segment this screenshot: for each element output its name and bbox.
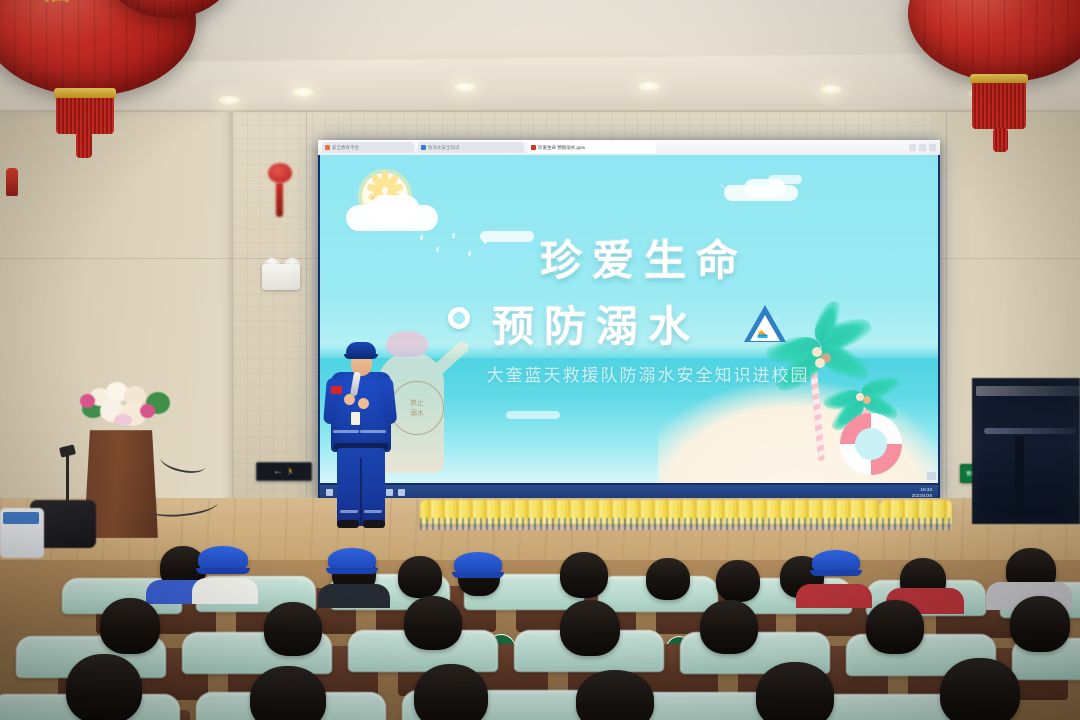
reflective-stripe: [333, 430, 359, 433]
life-ring-icon: [840, 413, 902, 475]
wall-lantern-tassel: [276, 183, 283, 217]
browser-tab[interactable]: 防溺水安全知识: [418, 142, 524, 153]
browser-tab-label: 珍爱生命 预防溺水.pptx: [538, 145, 585, 151]
slide-subtitle: 大奎蓝天救援队防溺水安全知识进校园: [448, 361, 848, 386]
arrow-left-icon: ←: [273, 467, 283, 477]
slide-title-line1: 珍爱生命: [540, 227, 748, 288]
staff-id-badge: [351, 412, 360, 425]
student-head: [866, 600, 924, 654]
wall-seam: [232, 112, 233, 512]
window-controls: [909, 144, 936, 151]
cap-brim: [810, 570, 862, 576]
presenter-shoe: [337, 520, 359, 528]
lantern-tassel-knot: [993, 128, 1008, 152]
lantern-tassel: [972, 83, 1026, 129]
cap-brim: [326, 568, 378, 574]
piano-lid: [976, 386, 1080, 396]
presenter-shoe: [363, 520, 385, 528]
fire-extinguisher-icon: [6, 168, 18, 196]
lantern-tassel: [56, 98, 114, 134]
close-button[interactable]: [929, 144, 936, 151]
watermark-stamp: 禁止溺水: [390, 381, 444, 435]
flower-arrangement: [76, 378, 172, 438]
favicon-icon: [421, 145, 426, 150]
network-icon[interactable]: [326, 489, 333, 496]
flower-pot-row: [420, 518, 952, 530]
cloud-shape: [506, 411, 560, 419]
projection-screen[interactable]: 安全教育平台 防溺水安全知识 珍爱生命 预防溺水.pptx: [318, 140, 940, 500]
slide-title-line2: 预防溺水: [492, 293, 700, 354]
cap-brim: [452, 572, 504, 578]
wall-seam: [306, 112, 307, 512]
student-shoulders: [192, 578, 258, 604]
student-head: [560, 552, 608, 598]
lantern-motif-icon: 福: [40, 0, 70, 8]
decorative-ring: [448, 307, 470, 329]
wall-seam: [946, 112, 947, 512]
maximize-button[interactable]: [919, 144, 926, 151]
browser-tab-active[interactable]: 珍爱生命 预防溺水.pptx: [528, 142, 656, 153]
student-head: [414, 664, 488, 720]
cloud-shape: [768, 175, 802, 184]
ceiling-light: [454, 83, 476, 92]
cloud-shape: [368, 195, 420, 225]
china-flag-patch-icon: [331, 386, 342, 394]
reflective-stripe: [364, 510, 382, 513]
presenter-cap: [346, 342, 376, 356]
coconut-icon: [863, 396, 871, 404]
student-head: [100, 598, 160, 654]
student-head: [700, 600, 758, 654]
student-head: [1010, 596, 1070, 652]
ceiling-light: [820, 85, 842, 94]
wall-seam: [940, 258, 1080, 259]
cloud-shape: [480, 231, 534, 242]
taskbar-clock[interactable]: 16:33 2023/4/26: [912, 487, 932, 497]
minimize-button[interactable]: [909, 144, 916, 151]
swim-cap-icon: [386, 331, 428, 357]
student-head: [250, 666, 326, 720]
sack-label: [3, 512, 39, 524]
ceiling-light: [292, 88, 314, 97]
student-head: [716, 560, 760, 602]
app-icon[interactable]: [398, 489, 405, 496]
browser-tab-label: 安全教育平台: [332, 145, 359, 151]
student-head: [264, 602, 322, 656]
reflective-stripe: [340, 510, 358, 513]
presentation-slide: ⌵ ⌵ 禁止溺水: [320, 155, 938, 483]
favicon-icon: [325, 145, 330, 150]
clock-date: 2023/4/26: [912, 493, 932, 498]
app-icon[interactable]: [386, 489, 393, 496]
wall-lantern-decoration: [268, 163, 292, 183]
auditorium-scene: ← 🏃 安全出口 🏃 → 安全教育平台 防溺水安全知识 珍爱生命 预防溺水.pp…: [0, 0, 1080, 720]
lantern-tassel-knot: [76, 132, 92, 158]
student-head: [560, 600, 620, 656]
running-man-icon: 🏃: [286, 468, 295, 476]
scroll-thumb[interactable]: [927, 472, 936, 480]
piano: [972, 378, 1080, 524]
reflective-stripe: [360, 430, 386, 433]
leg-seam: [360, 458, 362, 524]
student-head: [756, 662, 834, 720]
ceiling-light: [218, 96, 240, 105]
piano-leg: [1015, 436, 1024, 514]
student-head: [404, 596, 462, 650]
presenter-hand-right: [358, 398, 369, 409]
student-head: [646, 558, 690, 600]
student-head: [398, 556, 442, 598]
student-head: [576, 670, 654, 720]
student-head: [66, 654, 142, 720]
emergency-light-unit: [262, 264, 300, 290]
ceiling-light: [638, 82, 660, 91]
favicon-icon: [531, 145, 536, 150]
browser-tab[interactable]: 安全教育平台: [322, 142, 414, 153]
piano-highlight: [984, 428, 1076, 434]
student-head: [940, 658, 1020, 720]
cap-brim: [196, 568, 250, 574]
student-shoulders: [796, 584, 872, 608]
browser-tab-label: 防溺水安全知识: [428, 145, 460, 151]
student-shoulders: [318, 584, 390, 608]
exit-sign-left: ← 🏃: [256, 462, 312, 481]
no-swimming-glyph: 🏊: [757, 329, 768, 338]
browser-chrome: 安全教育平台 防溺水安全知识 珍爱生命 预防溺水.pptx: [318, 140, 940, 155]
seagull-icon: ⌵: [720, 177, 730, 193]
